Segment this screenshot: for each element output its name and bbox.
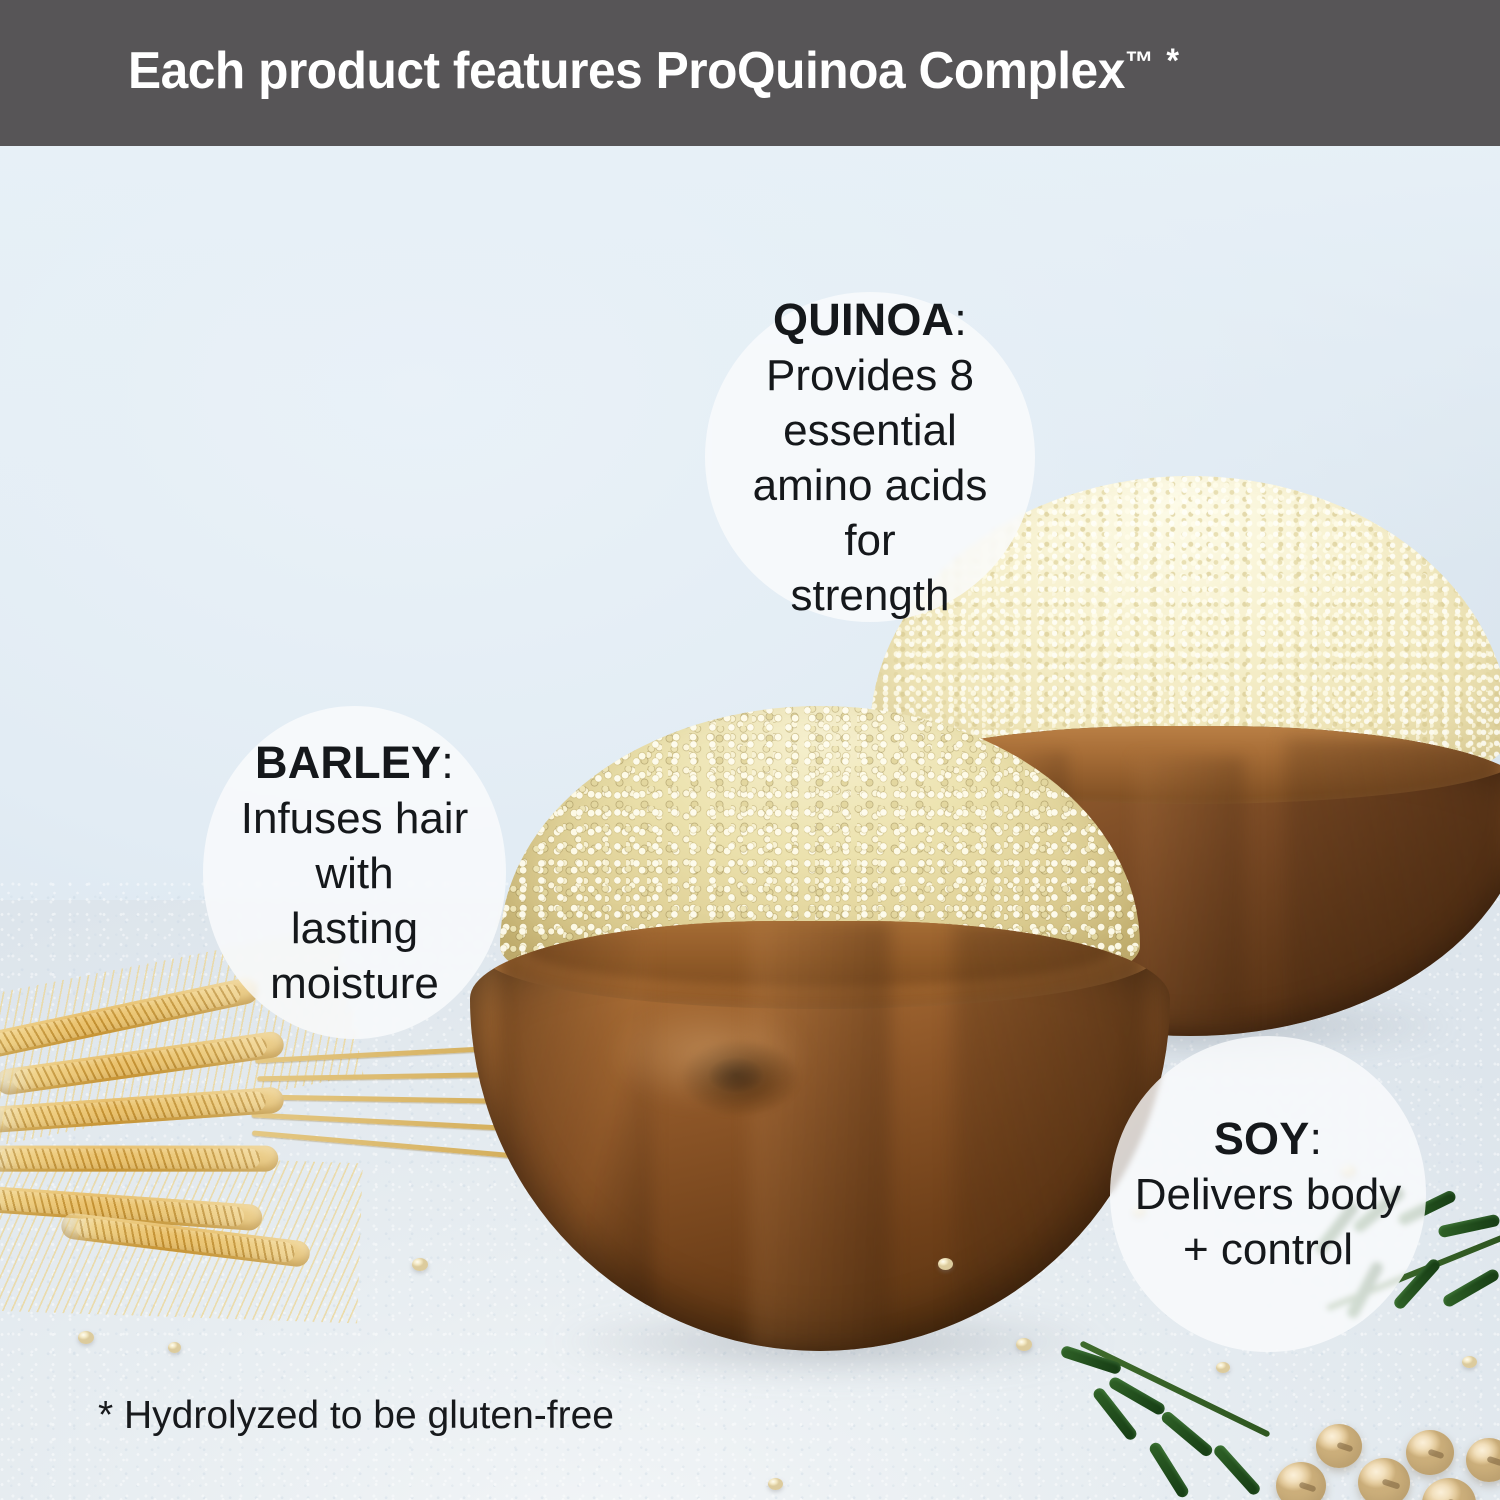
rosemary-needle: [1437, 1214, 1500, 1239]
callout-soy-body-line-2: + control: [1183, 1222, 1353, 1277]
rosemary-sprig-lower-left: [1060, 1346, 1300, 1500]
header-bar: Each product features ProQuinoa Complex™…: [0, 0, 1500, 146]
page-title-main: Each product features ProQuinoa Complex: [128, 42, 1125, 100]
callout-quinoa-body-line-1: Provides 8 essential: [729, 348, 1011, 458]
scattered-quinoa-grain: [1016, 1338, 1032, 1351]
scattered-quinoa-grain: [78, 1331, 94, 1344]
callout-barley: BARLEY: Infuses hair with lasting moistu…: [203, 706, 506, 1039]
soybean: [1358, 1458, 1410, 1500]
soybean: [1466, 1438, 1500, 1482]
footnote-asterisk-icon: *: [1166, 42, 1178, 80]
scattered-quinoa-grain: [1216, 1362, 1230, 1373]
front-bowl-highlight: [568, 981, 848, 1127]
rosemary-needle: [1147, 1441, 1190, 1500]
front-bowl-wood-body: [470, 921, 1170, 1351]
rosemary-needle: [1441, 1267, 1500, 1308]
scattered-quinoa-grain: [938, 1258, 953, 1270]
callout-quinoa-body-line-3: strength: [791, 568, 950, 623]
rosemary-needle: [1212, 1443, 1262, 1497]
page-title: Each product features ProQuinoa Complex™…: [128, 29, 1179, 103]
soybean: [1422, 1478, 1476, 1500]
callout-quinoa: QUINOA: Provides 8 essential amino acids…: [705, 292, 1035, 622]
footnote-gluten-free: * Hydrolyzed to be gluten-free: [98, 1392, 614, 1440]
back-bowl-woodgrain-right: [1285, 738, 1500, 1036]
callout-quinoa-colon: :: [954, 294, 967, 345]
scattered-quinoa-grain: [768, 1478, 783, 1490]
soybean-cluster: [1270, 1416, 1500, 1500]
callout-quinoa-title: QUINOA:: [773, 292, 967, 348]
soybean: [1276, 1462, 1326, 1500]
callout-soy: SOY: Delivers body + control: [1110, 1036, 1426, 1352]
scattered-quinoa-grain: [168, 1342, 181, 1353]
scattered-quinoa-grain: [1462, 1356, 1477, 1368]
soybean: [1316, 1424, 1362, 1468]
callout-soy-body-line-1: Delivers body: [1135, 1167, 1402, 1222]
rosemary-needle: [1159, 1409, 1214, 1458]
scattered-quinoa-grain: [412, 1258, 428, 1271]
front-bowl-woodgrain-right: [953, 921, 1149, 1351]
front-bowl-woodgrain-middle: [750, 921, 890, 1351]
callout-quinoa-body-line-2: amino acids for: [729, 458, 1011, 568]
trademark-icon: ™: [1125, 46, 1153, 79]
front-bowl-with-quinoa: [470, 706, 1170, 1356]
callout-soy-title: SOY:: [1214, 1111, 1322, 1167]
callout-barley-body-line-2: lasting moisture: [227, 901, 482, 1011]
callout-barley-body-line-1: Infuses hair with: [227, 791, 482, 901]
infographic-canvas: QUINOA: Provides 8 essential amino acids…: [0, 0, 1500, 1500]
callout-barley-title: BARLEY:: [255, 735, 454, 791]
callout-barley-colon: :: [441, 737, 454, 788]
wheat-head-4: [0, 1146, 278, 1172]
soybean: [1406, 1430, 1454, 1475]
callout-soy-colon: :: [1309, 1113, 1322, 1164]
